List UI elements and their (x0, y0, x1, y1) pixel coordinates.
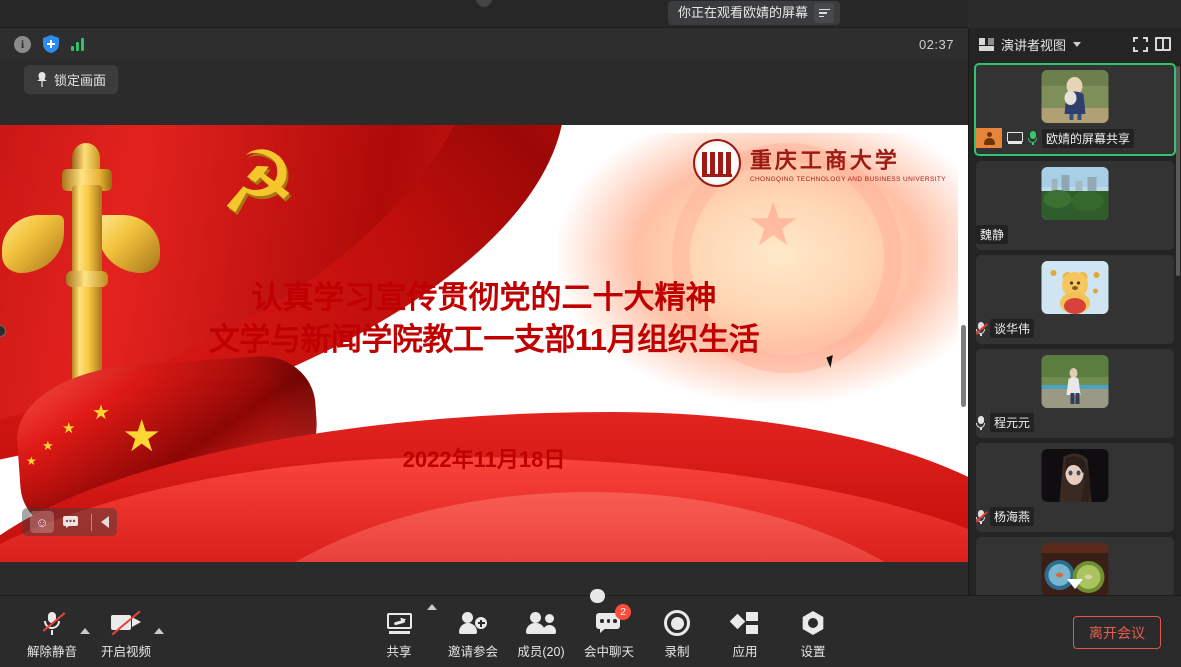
chat-button[interactable]: 2 会中聊天 (575, 604, 643, 660)
record-icon (664, 610, 690, 636)
participants-label: 成员(20) (517, 641, 564, 660)
signal-bars-icon (71, 37, 84, 51)
microphone-on-icon (1028, 131, 1037, 145)
slide-title: 认真学习宣传贯彻党的二十大精神 文学与新闻学院教工一支部11月组织生活 (0, 277, 968, 362)
microphone-muted-icon (42, 611, 62, 635)
participant-tile-footer: 程元元 (976, 411, 1040, 434)
panel-scrollbar[interactable] (1176, 66, 1180, 276)
participant-tile-footer: 谈华伟 (976, 317, 1040, 340)
scroll-down-arrow-icon[interactable] (1067, 579, 1083, 589)
lock-screen-label: 锁定画面 (54, 70, 106, 89)
city-skyline-photo (1042, 167, 1109, 220)
participant-tile-footer: 杨海燕 (976, 505, 1040, 528)
man-on-bridge-photo (1042, 355, 1109, 408)
toolbar-center-group: 共享 邀请参会 成员(20) 2 会中聊天 录制 应用 (365, 604, 847, 660)
top-notice-bar: 你正在观看欧婧的屏幕 (0, 0, 968, 28)
settings-button[interactable]: 设置 (779, 604, 847, 660)
participant-tile[interactable]: 程元元 (976, 349, 1174, 438)
participant-tile[interactable]: 杨海燕 (976, 443, 1174, 532)
participant-name: 欧婧的屏幕共享 (1042, 129, 1134, 148)
participant-tile-list[interactable]: 欧婧的屏幕共享 (969, 60, 1181, 595)
split-view-icon[interactable] (1155, 37, 1171, 51)
watching-screen-label: 你正在观看欧婧的屏幕 (678, 1, 808, 25)
smiley-icon[interactable]: ☺ (30, 511, 54, 533)
settings-label: 设置 (800, 641, 825, 660)
record-label: 录制 (664, 641, 689, 660)
toolbar-notch (590, 589, 605, 603)
collapse-left-arrow-icon[interactable] (101, 516, 109, 528)
apps-button[interactable]: 应用 (711, 604, 779, 660)
anime-girl-avatar (1042, 449, 1109, 502)
pin-icon (36, 72, 48, 87)
university-seal-icon (693, 139, 741, 187)
shield-plus-icon[interactable] (43, 35, 59, 53)
list-menu-icon[interactable] (814, 3, 834, 23)
stage-scrollbar[interactable] (961, 325, 966, 407)
microphone-icon (976, 416, 985, 430)
watching-screen-pill[interactable]: 你正在观看欧婧的屏幕 (668, 1, 840, 25)
participant-tile-footer: 欧婧的屏幕共享 (976, 126, 1140, 150)
chat-unread-badge: 2 (615, 604, 631, 620)
lock-screen-button[interactable]: 锁定画面 (24, 65, 118, 94)
child-in-blue-dress-photo (1042, 70, 1109, 123)
toolbar-divider (91, 514, 92, 531)
shared-screen-stage[interactable]: ★ ☭ ★ ★ ★ ★ ★ 重庆工商大学 (0, 125, 968, 562)
speaker-view-icon (979, 38, 994, 51)
window-notch (476, 0, 492, 7)
participant-tile[interactable]: 欧婧的屏幕共享 (974, 63, 1176, 156)
fullscreen-icon[interactable] (1133, 37, 1148, 52)
participants-panel: 演讲者视图 (968, 28, 1181, 595)
info-icon[interactable]: i (14, 36, 31, 53)
meeting-toolbar: 解除静音 开启视频 共享 邀请参会 成员(20) (0, 595, 1181, 667)
invite-button[interactable]: 邀请参会 (439, 604, 507, 660)
participant-tile[interactable]: 魏静 (976, 161, 1174, 250)
unmute-label: 解除静音 (27, 641, 77, 660)
invite-label: 邀请参会 (448, 641, 498, 660)
meeting-status-icons: i (14, 35, 84, 53)
chat-bubble-icon[interactable] (58, 511, 82, 533)
gold-star-icon: ★ (62, 421, 75, 436)
camera-off-icon (111, 613, 141, 633)
meeting-timer: 02:37 (919, 37, 954, 52)
record-button[interactable]: 录制 (643, 604, 711, 660)
chat-label: 会中聊天 (584, 641, 634, 660)
share-screen-icon (387, 613, 412, 634)
leave-meeting-button[interactable]: 离开会议 (1073, 616, 1161, 649)
winnie-bear-avatar (1042, 261, 1109, 314)
slide-title-line1: 认真学习宣传贯彻党的二十大精神 (0, 277, 968, 319)
hammer-sickle-emblem-icon: ☭ (212, 137, 304, 229)
university-name-cn: 重庆工商大学 (750, 143, 946, 175)
host-badge (976, 128, 1002, 148)
settings-gear-icon (801, 611, 825, 635)
toolbar-left-group: 解除静音 开启视频 (18, 604, 166, 660)
panel-header: 演讲者视图 (969, 28, 1181, 60)
chevron-down-icon[interactable] (1073, 42, 1081, 47)
gold-star-icon: ★ (92, 403, 110, 423)
glow-star-decoration: ★ (746, 195, 800, 255)
participant-tile[interactable]: 谈华伟 (976, 255, 1174, 344)
invite-person-icon (459, 612, 487, 634)
slide-float-toolbar[interactable]: ☺ (22, 508, 117, 536)
microphone-muted-icon (976, 322, 985, 336)
slide-date: 2022年11月18日 (0, 442, 968, 474)
participant-name: 杨海燕 (990, 507, 1034, 526)
participants-icon (526, 612, 556, 634)
screen-share-icon (1007, 132, 1023, 145)
participant-name: 魏静 (976, 225, 1008, 244)
share-button[interactable]: 共享 (365, 604, 433, 660)
slide-title-line2: 文学与新闻学院教工一支部11月组织生活 (0, 319, 968, 361)
microphone-muted-icon (976, 510, 985, 524)
apps-icon (732, 611, 758, 635)
university-name-en: CHONGQING TECHNOLOGY AND BUSINESS UNIVER… (750, 176, 946, 183)
participant-tile-footer: 魏静 (976, 223, 1014, 246)
start-video-button[interactable]: 开启视频 (92, 604, 160, 660)
apps-label: 应用 (732, 641, 757, 660)
university-logo: 重庆工商大学 CHONGQING TECHNOLOGY AND BUSINESS… (693, 139, 946, 187)
participant-name: 程元元 (990, 413, 1034, 432)
zoom-meeting-window: 你正在观看欧婧的屏幕 i 02:37 锁定画面 (0, 0, 1181, 667)
presentation-slide: ★ ☭ ★ ★ ★ ★ ★ 重庆工商大学 (0, 125, 968, 562)
participants-button[interactable]: 成员(20) (507, 604, 575, 660)
share-label: 共享 (386, 641, 411, 660)
participant-name: 谈华伟 (990, 319, 1034, 338)
start-video-label: 开启视频 (101, 641, 151, 660)
meeting-info-bar: i 02:37 (0, 28, 968, 60)
unmute-button[interactable]: 解除静音 (18, 604, 86, 660)
view-mode-label[interactable]: 演讲者视图 (1001, 35, 1066, 54)
